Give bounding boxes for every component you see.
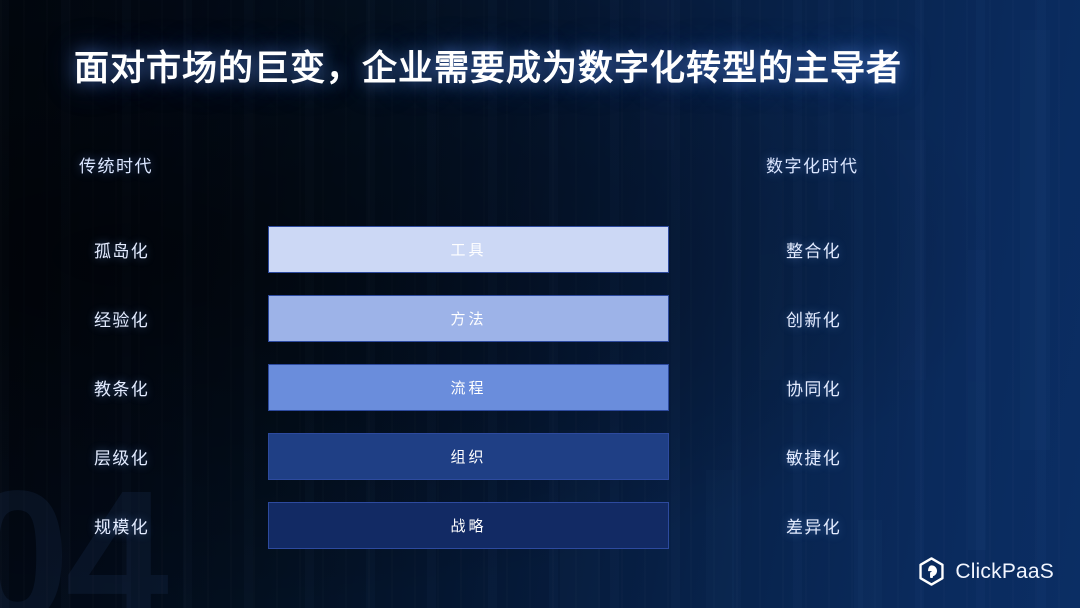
right-label: 差异化: [786, 502, 841, 549]
center-bar[interactable]: 战略: [268, 502, 669, 549]
center-bar[interactable]: 流程: [268, 364, 669, 411]
left-label: 经验化: [94, 295, 149, 342]
hexagon-cube-icon: [917, 557, 946, 586]
right-label: 协同化: [786, 364, 841, 411]
right-label: 创新化: [786, 295, 841, 342]
left-label: 层级化: [94, 433, 149, 480]
center-bar[interactable]: 方法: [268, 295, 669, 342]
left-label: 教条化: [94, 364, 149, 411]
column-header-digital: 数字化时代: [766, 152, 859, 177]
left-label: 孤岛化: [94, 226, 149, 273]
comparison-row: 规模化 战略 差异化: [0, 502, 1080, 549]
slide-canvas: 04 面对市场的巨变，企业需要成为数字化转型的主导者 传统时代 数字化时代 孤岛…: [0, 0, 1080, 608]
comparison-row: 层级化 组织 敏捷化: [0, 433, 1080, 480]
comparison-row: 孤岛化 工具 整合化: [0, 226, 1080, 273]
center-bar[interactable]: 组织: [268, 433, 669, 480]
left-label: 规模化: [94, 502, 149, 549]
page-title: 面对市场的巨变，企业需要成为数字化转型的主导者: [74, 40, 902, 91]
right-label: 整合化: [786, 226, 841, 273]
comparison-row: 教条化 流程 协同化: [0, 364, 1080, 411]
brand-name: ClickPaaS: [955, 560, 1054, 584]
right-label: 敏捷化: [786, 433, 841, 480]
center-bar[interactable]: 工具: [268, 226, 669, 273]
comparison-rows: 孤岛化 工具 整合化 经验化 方法 创新化 教条化 流程 协同化 层级化 组织 …: [0, 226, 1080, 549]
brand-logo: ClickPaaS: [917, 557, 1054, 586]
column-header-traditional: 传统时代: [79, 152, 153, 177]
comparison-row: 经验化 方法 创新化: [0, 295, 1080, 342]
